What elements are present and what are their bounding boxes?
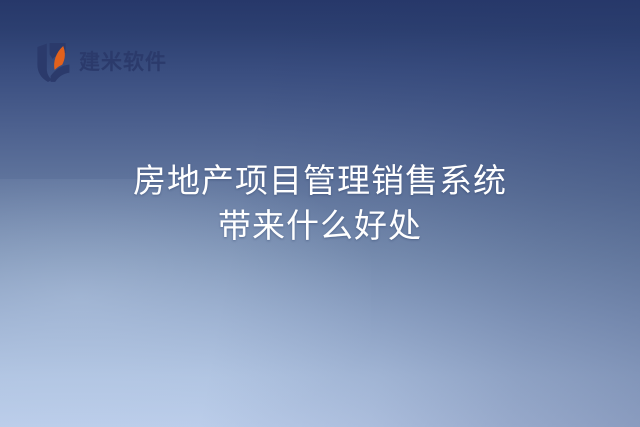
brand-name-text: 建米软件: [79, 52, 167, 73]
headline-line-1: 房地产项目管理销售系统: [0, 158, 640, 203]
headline-block: 房地产项目管理销售系统 带来什么好处: [0, 158, 640, 248]
headline-line-2: 带来什么好处: [0, 203, 640, 248]
promo-banner: 建米软件 房地产项目管理销售系统 带来什么好处: [0, 0, 640, 427]
brand-logo[interactable]: 建米软件: [34, 42, 167, 83]
jianmi-logo-mark-icon: [34, 42, 72, 83]
